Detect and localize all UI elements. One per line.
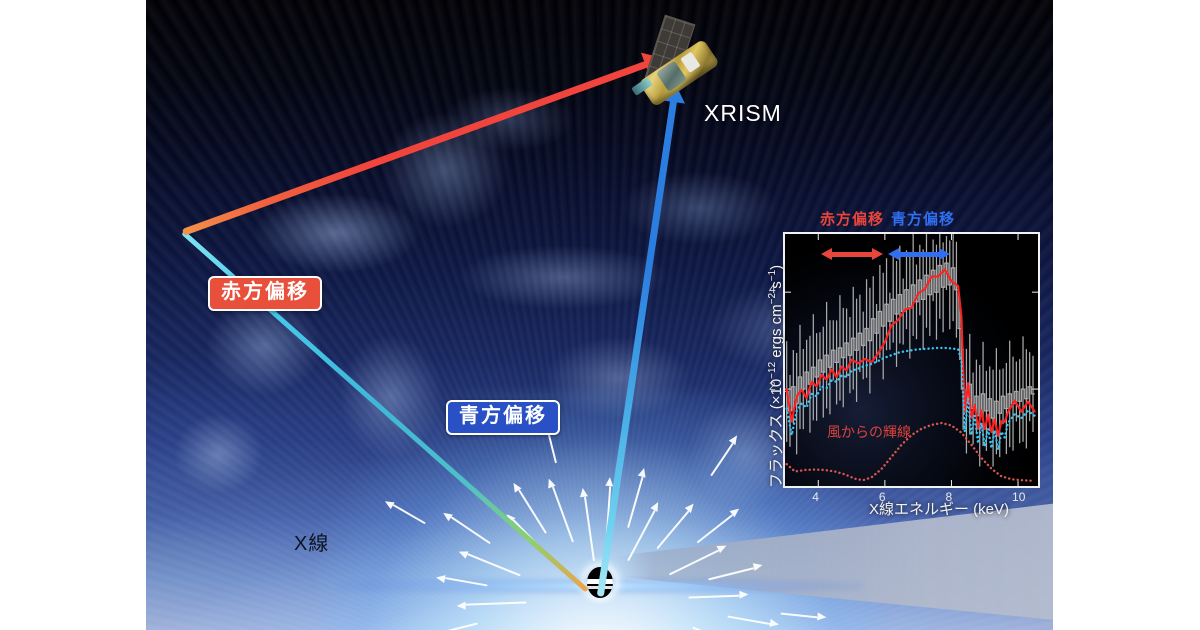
blueshift-range-arrow bbox=[888, 248, 950, 261]
wind-emission-label: 風からの輝線 bbox=[827, 422, 911, 442]
xray-label: X線 bbox=[294, 527, 329, 556]
redshift-range-arrow bbox=[821, 248, 883, 261]
arrow-head-right-icon bbox=[872, 248, 883, 260]
spectrum-inset-panel: 赤方偏移 青方偏移 風からの輝線 46810 24 X線エネルギー (keV) … bbox=[637, 200, 1053, 530]
redshift-tag: 赤方偏移 bbox=[208, 276, 322, 311]
x-tick-label: 4 bbox=[812, 490, 819, 504]
blueshift-tag: 青方偏移 bbox=[446, 400, 560, 435]
blueshift-range-label: 青方偏移 bbox=[891, 208, 955, 229]
arrow-head-right-icon bbox=[939, 248, 950, 260]
figure-canvas: XRISM 赤方偏移 青方偏移 X線 赤方偏移 青方偏移 風からの輝線 bbox=[0, 0, 1200, 630]
arrow-shaft bbox=[830, 252, 874, 257]
y-axis-title: フラックス (×10−12 ergs cm−2 s−1) bbox=[765, 265, 786, 488]
spectrum-svg bbox=[785, 234, 1038, 486]
arrow-shaft bbox=[897, 252, 941, 257]
y-axis-title-text: フラックス (×10−12 ergs cm−2 s−1) bbox=[768, 265, 785, 488]
illustration-area: XRISM 赤方偏移 青方偏移 X線 赤方偏移 青方偏移 風からの輝線 bbox=[146, 0, 1053, 630]
xrism-label: XRISM bbox=[704, 100, 782, 127]
spectrum-plot bbox=[783, 232, 1040, 488]
x-tick-label: 10 bbox=[1012, 490, 1025, 504]
redshift-range-label: 赤方偏移 bbox=[820, 208, 884, 229]
x-axis-title: X線エネルギー (keV) bbox=[869, 498, 1009, 519]
